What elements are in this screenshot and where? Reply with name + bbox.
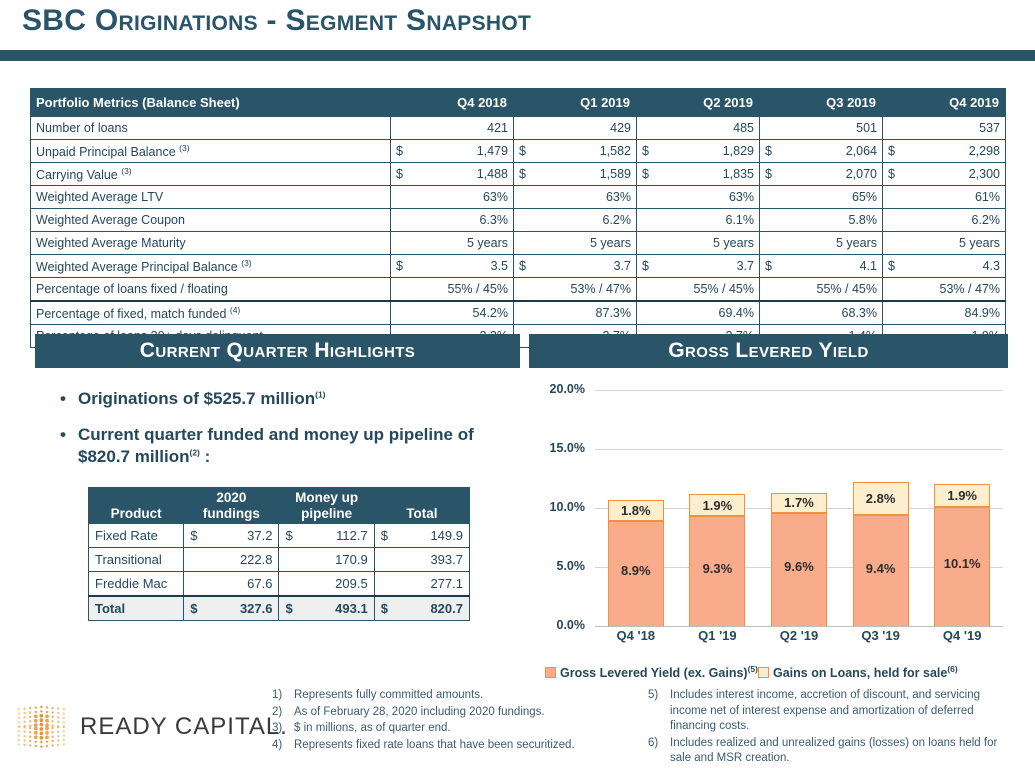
chart-bar-label: 1.7% — [784, 495, 814, 510]
metric-value: 6.2% — [532, 209, 637, 232]
product-col-header-0: Product — [89, 488, 184, 524]
product-value: 820.7 — [389, 596, 470, 621]
product-total-row: Total$327.6$493.1$820.7 — [89, 596, 470, 621]
chart-plot-area: 1.8%8.9%1.9%9.3%1.7%9.6%2.8%9.4%1.9%10.1… — [595, 390, 1003, 626]
metric-label: Unpaid Principal Balance (3) — [31, 140, 391, 163]
metric-currency-symbol — [391, 232, 409, 255]
chart-bar-label: 9.3% — [703, 561, 733, 576]
metric-value: 3.5 — [409, 255, 514, 278]
metric-currency-symbol: $ — [883, 163, 901, 186]
current-quarter-highlights-header: Current Quarter Highlights — [35, 334, 520, 368]
chart-bar-segment-yield: 8.9% — [608, 521, 664, 626]
metrics-col-header-3: Q3 2019 — [760, 89, 883, 117]
metric-value: 5 years — [409, 232, 514, 255]
metric-value: 54.2% — [409, 301, 514, 325]
metric-currency-symbol — [391, 117, 409, 140]
footnote-text: Includes interest income, accretion of d… — [670, 688, 998, 735]
metric-currency-symbol — [514, 278, 532, 302]
chart-bar[interactable]: 1.8%8.9% — [608, 500, 664, 626]
metric-currency-symbol — [514, 117, 532, 140]
chart-bar-label: 8.9% — [621, 563, 651, 578]
metric-value: 53% / 47% — [901, 278, 1006, 302]
footnote-item: 3)$ in millions, as of quarter end. — [272, 721, 642, 737]
bullet-text: Originations of $525.7 million(1) — [78, 388, 530, 410]
chart-bar-segment-gains: 1.9% — [934, 484, 990, 506]
metric-value: 5 years — [655, 232, 760, 255]
product-currency-symbol — [279, 548, 293, 572]
metric-currency-symbol — [637, 117, 655, 140]
chart-bar-label: 9.6% — [784, 559, 814, 574]
product-col-header-2: Money up pipeline — [279, 488, 374, 524]
chart-bar[interactable]: 1.9%10.1% — [934, 484, 990, 626]
page-title: SBC Originations - Segment Snapshot — [22, 4, 531, 38]
bullet-marker-icon: • — [60, 424, 78, 468]
metric-currency-symbol: $ — [760, 140, 778, 163]
footnote-text: Represents fully committed amounts. — [294, 688, 642, 704]
logo-wordmark: READY CAPITAL. — [80, 713, 288, 741]
metric-currency-symbol — [883, 278, 901, 302]
metric-value: 1,582 — [532, 140, 637, 163]
metric-currency-symbol — [514, 186, 532, 209]
table-row: Weighted Average Coupon 6.3%6.2%6.1%5.8%… — [31, 209, 1006, 232]
metric-currency-symbol — [637, 232, 655, 255]
footnote-number: 5) — [648, 688, 670, 735]
metric-label: Number of loans — [31, 117, 391, 140]
chart-y-tick-label: 20.0% — [529, 382, 585, 396]
metric-value: 4.3 — [901, 255, 1006, 278]
chart-bar-label: 2.8% — [866, 491, 896, 506]
footnotes-right: 5)Includes interest income, accretion of… — [648, 688, 998, 768]
metric-value: 63% — [409, 186, 514, 209]
legend-label: Gains on Loans, held for sale(6) — [773, 664, 958, 680]
bullet-item: •Originations of $525.7 million(1) — [60, 388, 530, 410]
metric-currency-symbol — [637, 186, 655, 209]
product-value: 149.9 — [389, 524, 470, 548]
metric-currency-symbol — [391, 186, 409, 209]
metric-label: Percentage of fixed, match funded (4) — [31, 301, 391, 325]
table-row: Percentage of loans fixed / floating 55%… — [31, 278, 1006, 302]
metric-currency-symbol — [760, 209, 778, 232]
ready-capital-logo: READY CAPITAL. — [14, 702, 288, 752]
chart-bar-segment-yield: 9.4% — [853, 515, 909, 626]
metric-currency-symbol — [760, 186, 778, 209]
metric-currency-symbol: $ — [760, 255, 778, 278]
metric-value: 63% — [655, 186, 760, 209]
product-value: 67.6 — [198, 572, 279, 597]
metric-value: 68.3% — [778, 301, 883, 325]
table-row: Transitional222.8170.9393.7 — [89, 548, 470, 572]
metric-value: 2,070 — [778, 163, 883, 186]
metric-value: 2,298 — [901, 140, 1006, 163]
metric-currency-symbol: $ — [883, 140, 901, 163]
product-header-row: Product 2020 fundings Money up pipeline … — [89, 488, 470, 524]
metric-currency-symbol — [391, 209, 409, 232]
product-value: 170.9 — [293, 548, 374, 572]
metric-value: 55% / 45% — [409, 278, 514, 302]
metric-value: 5.8% — [778, 209, 883, 232]
metric-label: Carrying Value (3) — [31, 163, 391, 186]
product-value: 493.1 — [293, 596, 374, 621]
legend-item[interactable]: Gains on Loans, held for sale(6) — [758, 664, 958, 680]
metric-value: 1,589 — [532, 163, 637, 186]
metric-currency-symbol — [637, 209, 655, 232]
chart-bar-label: 1.8% — [621, 503, 651, 518]
product-col-header-1: 2020 fundings — [184, 488, 279, 524]
metric-currency-symbol — [391, 301, 409, 325]
footnote-item: 2)As of February 28, 2020 including 2020… — [272, 705, 642, 721]
chart-y-tick-label: 0.0% — [529, 618, 585, 632]
chart-x-tick-label: Q4 '18 — [601, 628, 671, 643]
metric-currency-symbol: $ — [637, 255, 655, 278]
metric-value: 4.1 — [778, 255, 883, 278]
legend-item[interactable]: Gross Levered Yield (ex. Gains)(5) — [545, 664, 758, 680]
table-row: Weighted Average Maturity 5 years5 years… — [31, 232, 1006, 255]
chart-bar-segment-gains: 1.8% — [608, 500, 664, 521]
metric-currency-symbol — [883, 232, 901, 255]
product-value: 277.1 — [389, 572, 470, 597]
product-value: 37.2 — [198, 524, 279, 548]
metric-currency-symbol — [514, 209, 532, 232]
chart-bar[interactable]: 1.9%9.3% — [689, 494, 745, 626]
metric-currency-symbol — [760, 278, 778, 302]
metric-value: 1,488 — [409, 163, 514, 186]
metric-value: 55% / 45% — [778, 278, 883, 302]
metrics-col-header-4: Q4 2019 — [883, 89, 1006, 117]
metric-value: 5 years — [901, 232, 1006, 255]
product-name: Transitional — [89, 548, 184, 572]
table-row: Freddie Mac67.6209.5277.1 — [89, 572, 470, 597]
chart-bar[interactable]: 1.7%9.6% — [771, 493, 827, 626]
table-row: Fixed Rate$37.2$112.7$149.9 — [89, 524, 470, 548]
metric-value: 3.7 — [532, 255, 637, 278]
gross-levered-yield-header: Gross Levered Yield — [529, 334, 1008, 368]
metric-currency-symbol: $ — [637, 163, 655, 186]
metric-label: Weighted Average LTV — [31, 186, 391, 209]
metric-value: 65% — [778, 186, 883, 209]
metric-value: 2,064 — [778, 140, 883, 163]
product-currency-symbol — [184, 572, 198, 597]
product-currency-symbol: $ — [279, 524, 293, 548]
product-currency-symbol: $ — [184, 596, 198, 621]
product-name: Fixed Rate — [89, 524, 184, 548]
table-row: Unpaid Principal Balance (3)$1,479$1,582… — [31, 140, 1006, 163]
metric-currency-symbol — [883, 301, 901, 325]
chart-bar-label: 1.9% — [947, 488, 977, 503]
metric-value: 485 — [655, 117, 760, 140]
metric-value: 537 — [901, 117, 1006, 140]
footnote-item: 1)Represents fully committed amounts. — [272, 688, 642, 704]
metric-currency-symbol — [760, 117, 778, 140]
chart-x-tick-label: Q2 '19 — [764, 628, 834, 643]
chart-y-tick-label: 10.0% — [529, 500, 585, 514]
legend-color-swatch — [545, 667, 556, 678]
product-value: 222.8 — [198, 548, 279, 572]
metric-currency-symbol — [514, 232, 532, 255]
chart-y-tick-label: 15.0% — [529, 441, 585, 455]
header-divider-band — [0, 50, 1035, 61]
metric-currency-symbol — [760, 232, 778, 255]
metric-currency-symbol — [514, 301, 532, 325]
chart-bar-label: 9.4% — [866, 561, 896, 576]
chart-bar-segment-yield: 9.3% — [689, 516, 745, 626]
metric-label: Percentage of loans fixed / floating — [31, 278, 391, 302]
product-value: 393.7 — [389, 548, 470, 572]
footnote-item: 4)Represents fixed rate loans that have … — [272, 738, 642, 754]
metric-label: Weighted Average Principal Balance (3) — [31, 255, 391, 278]
metric-value: 501 — [778, 117, 883, 140]
product-currency-symbol — [184, 548, 198, 572]
chart-bar-segment-yield: 10.1% — [934, 507, 990, 626]
product-currency-symbol: $ — [184, 524, 198, 548]
metric-label: Weighted Average Coupon — [31, 209, 391, 232]
table-row: Weighted Average LTV 63%63%63%65%61% — [31, 186, 1006, 209]
product-currency-symbol: $ — [374, 524, 388, 548]
product-currency-symbol — [279, 572, 293, 597]
footnote-number: 6) — [648, 736, 670, 767]
chart-bar[interactable]: 2.8%9.4% — [853, 482, 909, 626]
metrics-col-header-0: Q4 2018 — [391, 89, 514, 117]
metric-value: 61% — [901, 186, 1006, 209]
metrics-col-header-2: Q2 2019 — [637, 89, 760, 117]
metric-value: 5 years — [778, 232, 883, 255]
metric-currency-symbol — [883, 186, 901, 209]
table-row: Weighted Average Principal Balance (3)$3… — [31, 255, 1006, 278]
legend-label: Gross Levered Yield (ex. Gains)(5) — [560, 664, 758, 680]
metric-currency-symbol: $ — [391, 140, 409, 163]
bullet-text: Current quarter funded and money up pipe… — [78, 424, 530, 468]
metric-currency-symbol: $ — [391, 163, 409, 186]
product-currency-symbol — [374, 548, 388, 572]
metric-currency-symbol: $ — [391, 255, 409, 278]
product-value: 112.7 — [293, 524, 374, 548]
metric-value: 2,300 — [901, 163, 1006, 186]
metric-currency-symbol — [883, 209, 901, 232]
bullet-item: •Current quarter funded and money up pip… — [60, 424, 530, 468]
product-currency-symbol: $ — [279, 596, 293, 621]
footnote-text: Includes realized and unrealized gains (… — [670, 736, 998, 767]
metric-value: 429 — [532, 117, 637, 140]
footnote-text: Represents fixed rate loans that have be… — [294, 738, 642, 754]
chart-x-tick-label: Q1 '19 — [682, 628, 752, 643]
chart-bar-segment-gains: 1.7% — [771, 493, 827, 513]
table-row: Percentage of fixed, match funded (4)54.… — [31, 301, 1006, 325]
chart-x-axis — [595, 626, 1003, 627]
metric-value: 87.3% — [532, 301, 637, 325]
chart-x-tick-label: Q4 '19 — [927, 628, 997, 643]
footnote-text: $ in millions, as of quarter end. — [294, 721, 642, 737]
product-value: 209.5 — [293, 572, 374, 597]
logo-dot-matrix-icon — [14, 702, 70, 752]
metric-value: 1,835 — [655, 163, 760, 186]
footnote-item: 5)Includes interest income, accretion of… — [648, 688, 998, 735]
metric-currency-symbol: $ — [760, 163, 778, 186]
chart-legend: Gross Levered Yield (ex. Gains)(5)Gains … — [545, 664, 1025, 680]
metric-currency-symbol — [637, 301, 655, 325]
metric-value: 55% / 45% — [655, 278, 760, 302]
metric-value: 53% / 47% — [532, 278, 637, 302]
metric-currency-symbol — [637, 278, 655, 302]
metric-value: 6.3% — [409, 209, 514, 232]
chart-bar-segment-gains: 1.9% — [689, 494, 745, 516]
chart-bar-segment-gains: 2.8% — [853, 482, 909, 515]
legend-color-swatch — [758, 667, 769, 678]
metric-value: 6.1% — [655, 209, 760, 232]
product-name: Freddie Mac — [89, 572, 184, 597]
chart-y-tick-label: 5.0% — [529, 559, 585, 573]
footnote-item: 6)Includes realized and unrealized gains… — [648, 736, 998, 767]
gross-levered-yield-chart: 20.0%15.0%10.0%5.0%0.0% 1.8%8.9%1.9%9.3%… — [529, 376, 1008, 654]
portfolio-metrics-table: Portfolio Metrics (Balance Sheet) Q4 201… — [30, 88, 1005, 348]
metric-value: 1,479 — [409, 140, 514, 163]
metrics-header-label: Portfolio Metrics (Balance Sheet) — [31, 89, 391, 117]
metric-value: 3.7 — [655, 255, 760, 278]
table-header-row: Portfolio Metrics (Balance Sheet) Q4 201… — [31, 89, 1006, 117]
metric-currency-symbol: $ — [514, 163, 532, 186]
metric-value: 84.9% — [901, 301, 1006, 325]
bullet-marker-icon: • — [60, 388, 78, 410]
product-funding-table: Product 2020 fundings Money up pipeline … — [88, 487, 470, 621]
footnote-text: As of February 28, 2020 including 2020 f… — [294, 705, 642, 721]
product-currency-symbol: $ — [374, 596, 388, 621]
metrics-col-header-1: Q1 2019 — [514, 89, 637, 117]
table-row: Number of loans 421429485501537 — [31, 117, 1006, 140]
metric-currency-symbol — [391, 278, 409, 302]
metric-label: Weighted Average Maturity — [31, 232, 391, 255]
chart-x-tick-label: Q3 '19 — [846, 628, 916, 643]
metric-value: 421 — [409, 117, 514, 140]
metric-currency-symbol: $ — [514, 140, 532, 163]
metric-currency-symbol: $ — [883, 255, 901, 278]
metric-currency-symbol — [883, 117, 901, 140]
metric-value: 6.2% — [901, 209, 1006, 232]
highlights-bullet-list: •Originations of $525.7 million(1)•Curre… — [60, 388, 530, 481]
product-currency-symbol — [374, 572, 388, 597]
metric-value: 69.4% — [655, 301, 760, 325]
table-row: Carrying Value (3)$1,488$1,589$1,835$2,0… — [31, 163, 1006, 186]
metric-value: 5 years — [532, 232, 637, 255]
metric-value: 63% — [532, 186, 637, 209]
chart-bar-label: 1.9% — [703, 498, 733, 513]
metric-currency-symbol: $ — [514, 255, 532, 278]
product-col-header-3: Total — [374, 488, 469, 524]
product-value: 327.6 — [198, 596, 279, 621]
footnotes-left: 1)Represents fully committed amounts.2)A… — [272, 688, 642, 754]
chart-bar-segment-yield: 9.6% — [771, 513, 827, 626]
product-name: Total — [89, 596, 184, 621]
metric-value: 1,829 — [655, 140, 760, 163]
metric-currency-symbol — [760, 301, 778, 325]
metric-currency-symbol: $ — [637, 140, 655, 163]
chart-bar-label: 10.1% — [944, 556, 981, 571]
